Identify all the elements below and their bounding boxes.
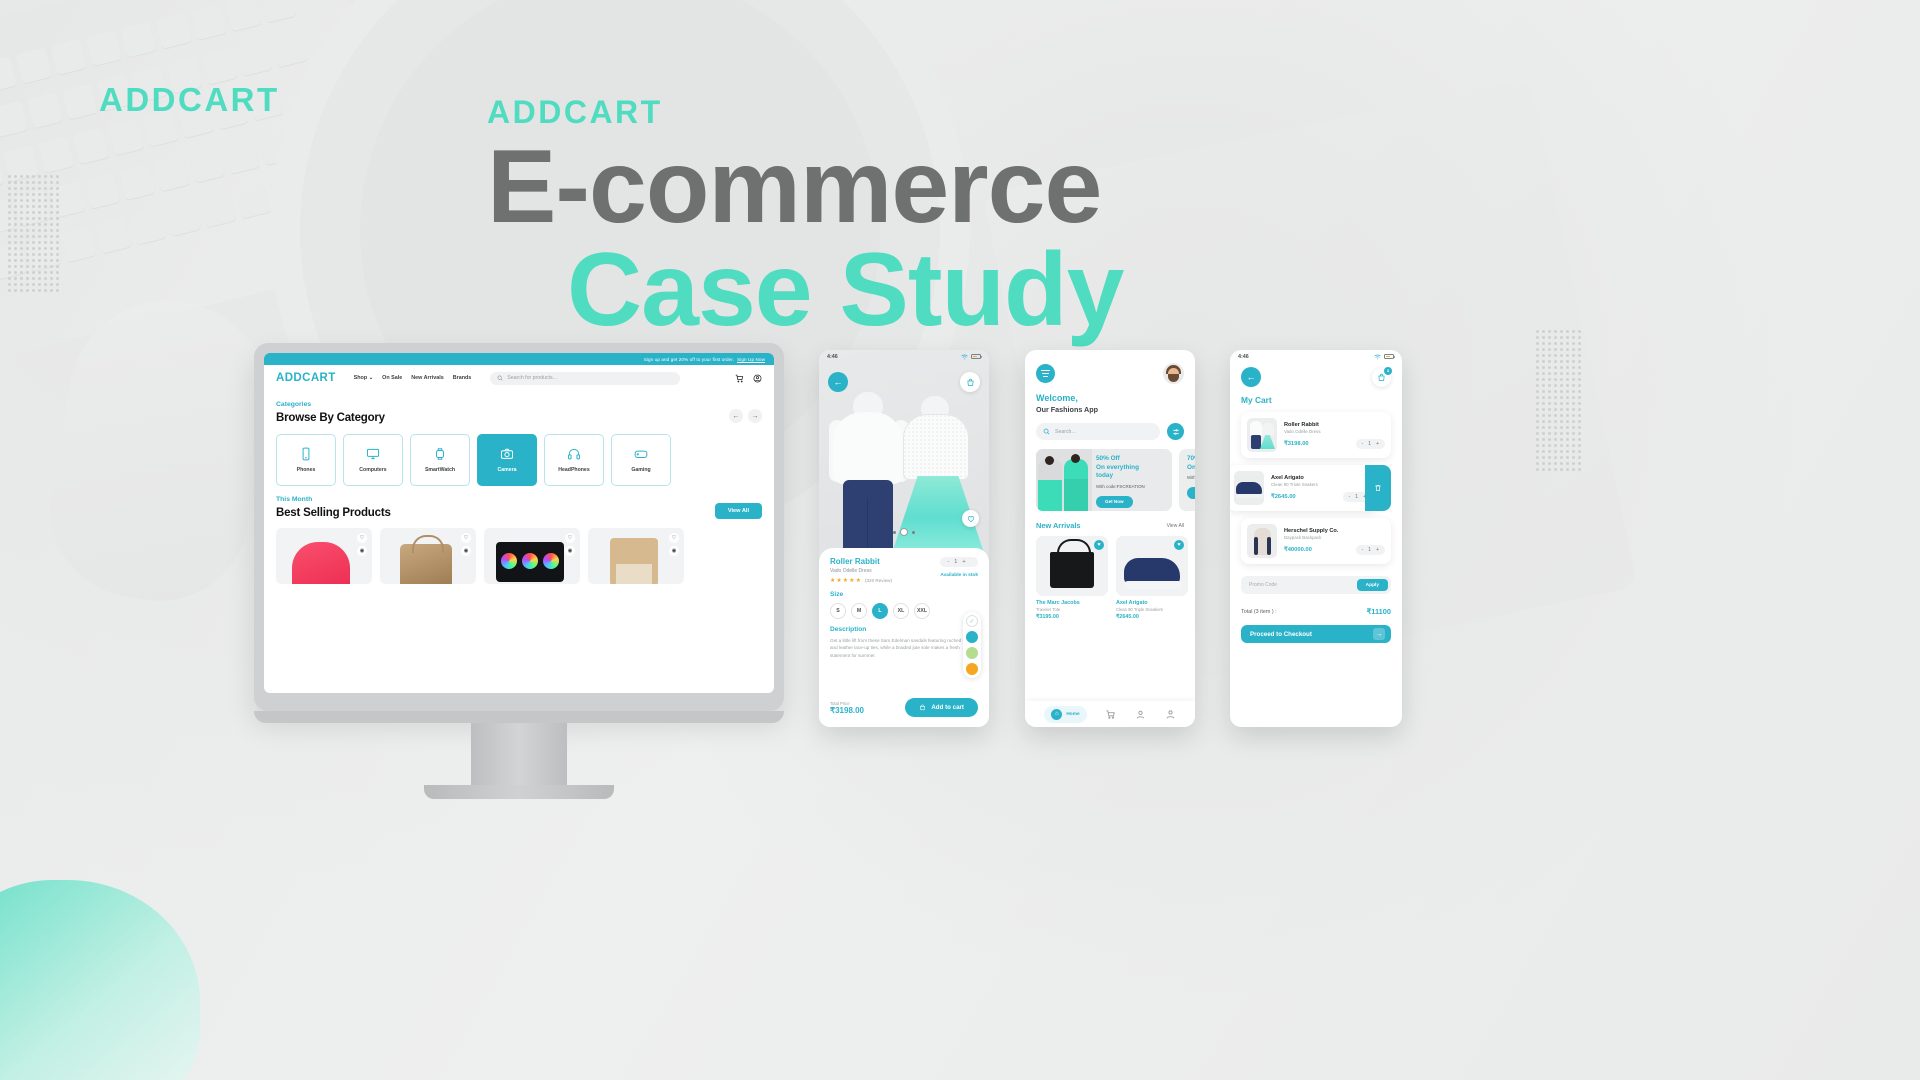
site-navbar: ADDCART Shop ⌄ On Sale New Arrivals Bran… xyxy=(264,365,774,391)
phone-cart: 4:46 ← 3 My Cart Roller Rabbit Vado Odel… xyxy=(1230,350,1402,727)
item-name: Axel Arigato xyxy=(1271,475,1372,481)
imac-stand-foot xyxy=(424,785,614,799)
battery-icon xyxy=(1384,354,1394,359)
trash-icon[interactable] xyxy=(1365,465,1391,511)
categories-eyebrow: Categories xyxy=(276,401,762,408)
proceed-to-checkout-button[interactable]: Proceed to Checkout → xyxy=(1241,625,1391,643)
search-placeholder: Search... xyxy=(1055,429,1076,435)
item-thumbnail xyxy=(1234,471,1264,505)
heart-icon[interactable]: ♥ xyxy=(1174,540,1184,550)
category-label: Camera xyxy=(497,467,516,473)
qty-minus[interactable]: - xyxy=(1362,547,1364,553)
qty-plus[interactable]: + xyxy=(962,559,965,565)
categories-section: Categories Browse By Category ← → Phones xyxy=(264,401,774,584)
home-content: Welcome, Our Fashions App Search... 50% … xyxy=(1025,350,1195,620)
get-now-button[interactable]: Get Now xyxy=(1096,496,1133,508)
poster-line-2: Case Study xyxy=(487,237,1487,344)
new-arrivals-list: ♥ The Marc Jacobs Traveler Tote ₹3195.00… xyxy=(1036,536,1184,620)
search-icon xyxy=(497,375,503,381)
home-search-row: Search... xyxy=(1036,423,1184,440)
checkout-label: Proceed to Checkout xyxy=(1250,631,1312,638)
item-price: ₹40000.00 xyxy=(1284,547,1312,553)
image-carousel-dots[interactable] xyxy=(893,528,915,536)
total-label: Total (3 item ) : xyxy=(1241,609,1277,615)
poster-kicker: ADDCART xyxy=(487,96,1487,128)
quick-view-icon[interactable]: ◉ xyxy=(565,546,575,556)
product-subtitle: Clean 90 Triple Sneakers xyxy=(1116,607,1188,612)
product-card[interactable]: ♡ ◉ xyxy=(484,528,580,584)
site-logo[interactable]: ADDCART xyxy=(276,372,336,384)
product-price: ₹2645.00 xyxy=(1116,614,1188,620)
stock-status: Available in stok xyxy=(940,573,978,578)
category-tile-gaming[interactable]: Gaming xyxy=(611,434,671,486)
star-icon: ★ xyxy=(843,577,848,584)
filter-icon[interactable] xyxy=(1167,423,1184,440)
quick-view-icon[interactable]: ◉ xyxy=(461,546,471,556)
swatch-orange[interactable] xyxy=(966,663,978,675)
nav-link-shop[interactable]: Shop ⌄ xyxy=(354,375,374,381)
favorite-icon[interactable]: ♡ xyxy=(669,533,679,543)
best-selling-products: ♡ ◉ ♡ ◉ ♡ ◉ ♡ xyxy=(276,528,762,584)
status-time: 4:46 xyxy=(1238,354,1249,360)
cart-title: My Cart xyxy=(1241,395,1391,405)
promo-image-models xyxy=(1036,449,1092,511)
category-label: Gaming xyxy=(631,467,650,473)
view-all-button[interactable]: View All xyxy=(715,503,762,519)
qty-value: 1 xyxy=(1355,494,1358,500)
product-card-axel-arigato[interactable]: ♥ Axel Arigato Clean 90 Triple Sneakers … xyxy=(1116,536,1188,620)
product-image-rgb-fans xyxy=(496,542,564,582)
product-card[interactable]: ♡ ◉ xyxy=(380,528,476,584)
size-option-l[interactable]: L xyxy=(872,603,888,619)
new-arrivals-title: New Arrivals xyxy=(1036,521,1081,530)
hamburger-icon[interactable] xyxy=(1036,364,1055,383)
poster-headline: ADDCART E-commerce Case Study xyxy=(487,96,1487,344)
nav-links: Shop ⌄ On Sale New Arrivals Brands xyxy=(354,375,472,381)
headphones-icon xyxy=(567,447,581,461)
imac-viewport: Sign up and get 20% off to your first or… xyxy=(264,353,774,693)
item-subtitle: Vado Odelle Dress xyxy=(1284,429,1385,434)
tab-home[interactable]: ⌂ Home xyxy=(1044,706,1086,723)
poster-line-1: E-commerce xyxy=(487,134,1487,241)
cart-item-row[interactable]: Axel Arigato Clean 90 Triole Snakers ₹26… xyxy=(1230,465,1378,511)
quantity-stepper[interactable]: - 1 + xyxy=(1356,545,1385,555)
product-card[interactable]: ♡ ◉ xyxy=(276,528,372,584)
best-selling-title: Best Selling Products xyxy=(276,507,391,519)
wifi-icon xyxy=(961,354,968,360)
cart-total-row: Total (3 item ) : ₹11100 xyxy=(1241,607,1391,616)
bottom-tab-bar: ⌂ Home xyxy=(1025,701,1195,727)
swatch-check-icon[interactable]: ✓ xyxy=(966,615,978,627)
home-icon: ⌂ xyxy=(1051,709,1062,720)
promo-placeholder: Promo Code xyxy=(1244,582,1357,588)
best-selling-eyebrow: This Month xyxy=(276,496,762,503)
back-arrow-icon[interactable]: ← xyxy=(828,372,848,392)
product-subtitle: Vado Odelle Dress xyxy=(830,568,892,574)
categories-title: Browse By Category xyxy=(276,412,385,424)
promo-card[interactable]: 70% OffOn everything With code: Get Now xyxy=(1179,449,1195,511)
imac-bezel: Sign up and get 20% off to your first or… xyxy=(254,343,784,711)
carousel-prev-button[interactable]: ← xyxy=(729,409,743,423)
swatch-teal[interactable] xyxy=(966,631,978,643)
total-price-value: ₹3198.00 xyxy=(830,706,864,715)
add-to-cart-label: Add to cart xyxy=(931,704,964,711)
total-value: ₹11100 xyxy=(1367,607,1391,616)
rating-row: ★★★★★ (320 Review) xyxy=(830,577,892,584)
item-name: Roller Rabbit xyxy=(1284,422,1385,428)
product-price: ₹3195.00 xyxy=(1036,614,1108,620)
gamepad-icon xyxy=(634,447,648,461)
product-image-sneaker: ♥ xyxy=(1116,536,1188,596)
status-bar: 4:46 xyxy=(819,350,989,363)
product-title: Roller Rabbit xyxy=(830,557,892,566)
quantity-stepper[interactable]: - 1 + xyxy=(940,557,978,567)
cart-item-row[interactable]: Herschel Supply Co. Daypack Backpack ₹40… xyxy=(1241,518,1391,564)
promo-code-input[interactable]: Promo Code Apply xyxy=(1241,576,1391,594)
search-icon xyxy=(1043,428,1050,435)
qty-value: 1 xyxy=(1368,547,1371,553)
favorite-icon[interactable]: ♡ xyxy=(461,533,471,543)
cart-icon[interactable] xyxy=(735,374,744,383)
carousel-arrows: ← → xyxy=(729,409,762,423)
new-arrivals-view-all[interactable]: View All xyxy=(1167,523,1184,529)
mannequin-outfit-2 xyxy=(891,396,985,568)
apply-button[interactable]: Apply xyxy=(1357,579,1388,591)
phone-product-detail: 4:46 ← Roller Rabbit Vado Odelle Dress ★… xyxy=(819,350,989,727)
cart-icon[interactable] xyxy=(1105,709,1116,720)
size-option-m[interactable]: M xyxy=(851,603,867,619)
qty-minus[interactable]: - xyxy=(1362,441,1364,447)
search-input[interactable]: Search... xyxy=(1036,423,1160,440)
item-thumbnail xyxy=(1247,524,1277,558)
nav-icons xyxy=(735,374,762,383)
get-now-button[interactable]: Get Now xyxy=(1187,487,1195,499)
promo-banner: Sign up and get 20% off to your first or… xyxy=(264,353,774,365)
product-info-sheet: Roller Rabbit Vado Odelle Dress ★★★★★ (3… xyxy=(819,548,989,727)
cart-top-bar: ← 3 xyxy=(1241,367,1391,387)
star-icon: ★ xyxy=(836,577,841,584)
category-tile-computers[interactable]: Computers xyxy=(343,434,403,486)
welcome-title: Welcome, xyxy=(1036,393,1184,403)
category-tiles: Phones Computers SmartWatch Camera xyxy=(276,434,762,486)
product-image-wooden-chair xyxy=(610,538,658,584)
best-selling-header: Best Selling Products View All xyxy=(276,503,762,519)
home-top-bar xyxy=(1036,363,1184,384)
swatch-green[interactable] xyxy=(966,647,978,659)
star-icon: ★ xyxy=(856,577,861,584)
description-label: Description xyxy=(830,626,978,633)
category-tile-headphones[interactable]: HeadPhones xyxy=(544,434,604,486)
nav-link-brands[interactable]: Brands xyxy=(453,375,472,381)
back-arrow-icon[interactable]: ← xyxy=(1241,367,1261,387)
product-image-tote: ♥ xyxy=(1036,536,1108,596)
size-option-xl[interactable]: XL xyxy=(893,603,909,619)
arrow-right-icon: → xyxy=(1373,628,1385,640)
favorite-icon[interactable]: ♡ xyxy=(565,533,575,543)
welcome-subtitle: Our Fashions App xyxy=(1036,405,1184,414)
wifi-icon xyxy=(1374,354,1381,360)
quick-view-icon[interactable]: ◉ xyxy=(669,546,679,556)
desktop-mockup: Sign up and get 20% off to your first or… xyxy=(254,343,784,799)
product-subtitle: Traveler Tote xyxy=(1036,607,1108,612)
qty-plus[interactable]: + xyxy=(1376,547,1379,553)
categories-header: Browse By Category ← → xyxy=(276,408,762,424)
product-image-handbag xyxy=(400,544,452,584)
qty-minus[interactable]: - xyxy=(947,559,949,565)
size-label: Size xyxy=(830,591,978,598)
cart-content: ← 3 My Cart Roller Rabbit Vado Odelle Dr… xyxy=(1230,367,1402,643)
nav-link-new-arrivals[interactable]: New Arrivals xyxy=(411,375,443,381)
qty-value: 1 xyxy=(954,559,957,565)
favorite-icon[interactable]: ♡ xyxy=(357,533,367,543)
battery-icon xyxy=(971,354,981,359)
product-card-marc-jacobs[interactable]: ♥ The Marc Jacobs Traveler Tote ₹3195.00 xyxy=(1036,536,1108,620)
product-image-red-jacket xyxy=(292,542,350,584)
category-label: SmartWatch xyxy=(425,467,455,473)
nav-link-on-sale[interactable]: On Sale xyxy=(382,375,402,381)
item-price: ₹2645.00 xyxy=(1271,494,1296,500)
category-label: HeadPhones xyxy=(558,467,589,473)
account-icon[interactable] xyxy=(753,374,762,383)
bag-icon[interactable] xyxy=(960,372,980,392)
search-input[interactable]: Search for products... xyxy=(490,372,680,385)
watch-icon xyxy=(433,447,447,461)
heart-icon[interactable] xyxy=(962,510,979,527)
qty-value: 1 xyxy=(1368,441,1371,447)
profile-icon[interactable] xyxy=(1165,709,1176,720)
promo-carousel[interactable]: 50% OffOn everythingtoday With code:FSCR… xyxy=(1036,449,1184,511)
product-name: The Marc Jacobs xyxy=(1036,600,1108,606)
promo-banner-text: Sign up and get 20% off to your first or… xyxy=(644,357,734,362)
carousel-next-button[interactable]: → xyxy=(748,409,762,423)
imac-stand-neck xyxy=(471,723,567,785)
item-thumbnail xyxy=(1247,418,1277,452)
phone-home: Welcome, Our Fashions App Search... 50% … xyxy=(1025,350,1195,727)
item-name: Herschel Supply Co. xyxy=(1284,528,1385,534)
star-icon: ★ xyxy=(830,577,835,584)
status-time: 4:46 xyxy=(827,354,838,360)
promo-signup-link[interactable]: Sign Up Now xyxy=(737,357,765,362)
product-footer: Total Price ₹3198.00 Add to cart xyxy=(830,698,978,717)
user-avatar[interactable] xyxy=(1163,363,1184,384)
brand-logo-top: ADDCART xyxy=(99,81,280,119)
search-placeholder: Search for products... xyxy=(507,375,557,381)
size-options: S M L XL XXL xyxy=(830,603,978,619)
status-bar: 4:46 xyxy=(1230,350,1402,363)
bag-icon xyxy=(919,704,926,711)
size-option-s[interactable]: S xyxy=(830,603,846,619)
color-swatches: ✓ xyxy=(963,612,981,678)
product-name: Axel Arigato xyxy=(1116,600,1188,606)
phone-icon xyxy=(299,447,313,461)
item-subtitle: Clean 90 Triole Snakers xyxy=(1271,482,1372,487)
star-icon: ★ xyxy=(849,577,854,584)
category-tile-phones[interactable]: Phones xyxy=(276,434,336,486)
promo-headline: 70% OffOn everything xyxy=(1187,455,1195,472)
promo-card[interactable]: 50% OffOn everythingtoday With code:FSCR… xyxy=(1036,449,1172,511)
bag-icon[interactable]: 3 xyxy=(1372,368,1391,387)
promo-code-text: With code:FSCREATION xyxy=(1096,484,1145,490)
quantity-stepper[interactable]: - 1 + xyxy=(1356,439,1385,449)
category-label: Computers xyxy=(359,467,386,473)
size-option-xxl[interactable]: XXL xyxy=(914,603,930,619)
monitor-icon xyxy=(366,447,380,461)
item-subtitle: Daypack Backpack xyxy=(1284,535,1385,540)
category-label: Phones xyxy=(297,467,316,473)
item-price: ₹3198.00 xyxy=(1284,441,1309,447)
review-count: (320 Review) xyxy=(865,578,892,583)
camera-icon xyxy=(500,447,514,461)
heart-icon[interactable]: ♥ xyxy=(1094,540,1104,550)
qty-minus[interactable]: - xyxy=(1349,494,1351,500)
tab-label: Home xyxy=(1066,712,1079,717)
promo-headline: 50% OffOn everythingtoday xyxy=(1096,455,1145,481)
description-text: Get a little lift from these Sam Edelman… xyxy=(830,637,978,659)
cart-badge: 3 xyxy=(1384,367,1392,375)
new-arrivals-header: New Arrivals View All xyxy=(1036,521,1184,530)
category-tile-smartwatch[interactable]: SmartWatch xyxy=(410,434,470,486)
qty-plus[interactable]: + xyxy=(1376,441,1379,447)
cart-item-row[interactable]: Roller Rabbit Vado Odelle Dress ₹3198.00… xyxy=(1241,412,1391,458)
imac-chin xyxy=(254,711,784,723)
category-tile-camera[interactable]: Camera xyxy=(477,434,537,486)
add-to-cart-button[interactable]: Add to cart xyxy=(905,698,978,717)
contacts-icon[interactable] xyxy=(1135,709,1146,720)
quick-view-icon[interactable]: ◉ xyxy=(357,546,367,556)
product-card[interactable]: ♡ ◉ xyxy=(588,528,684,584)
promo-code-text: With code: xyxy=(1187,475,1195,481)
